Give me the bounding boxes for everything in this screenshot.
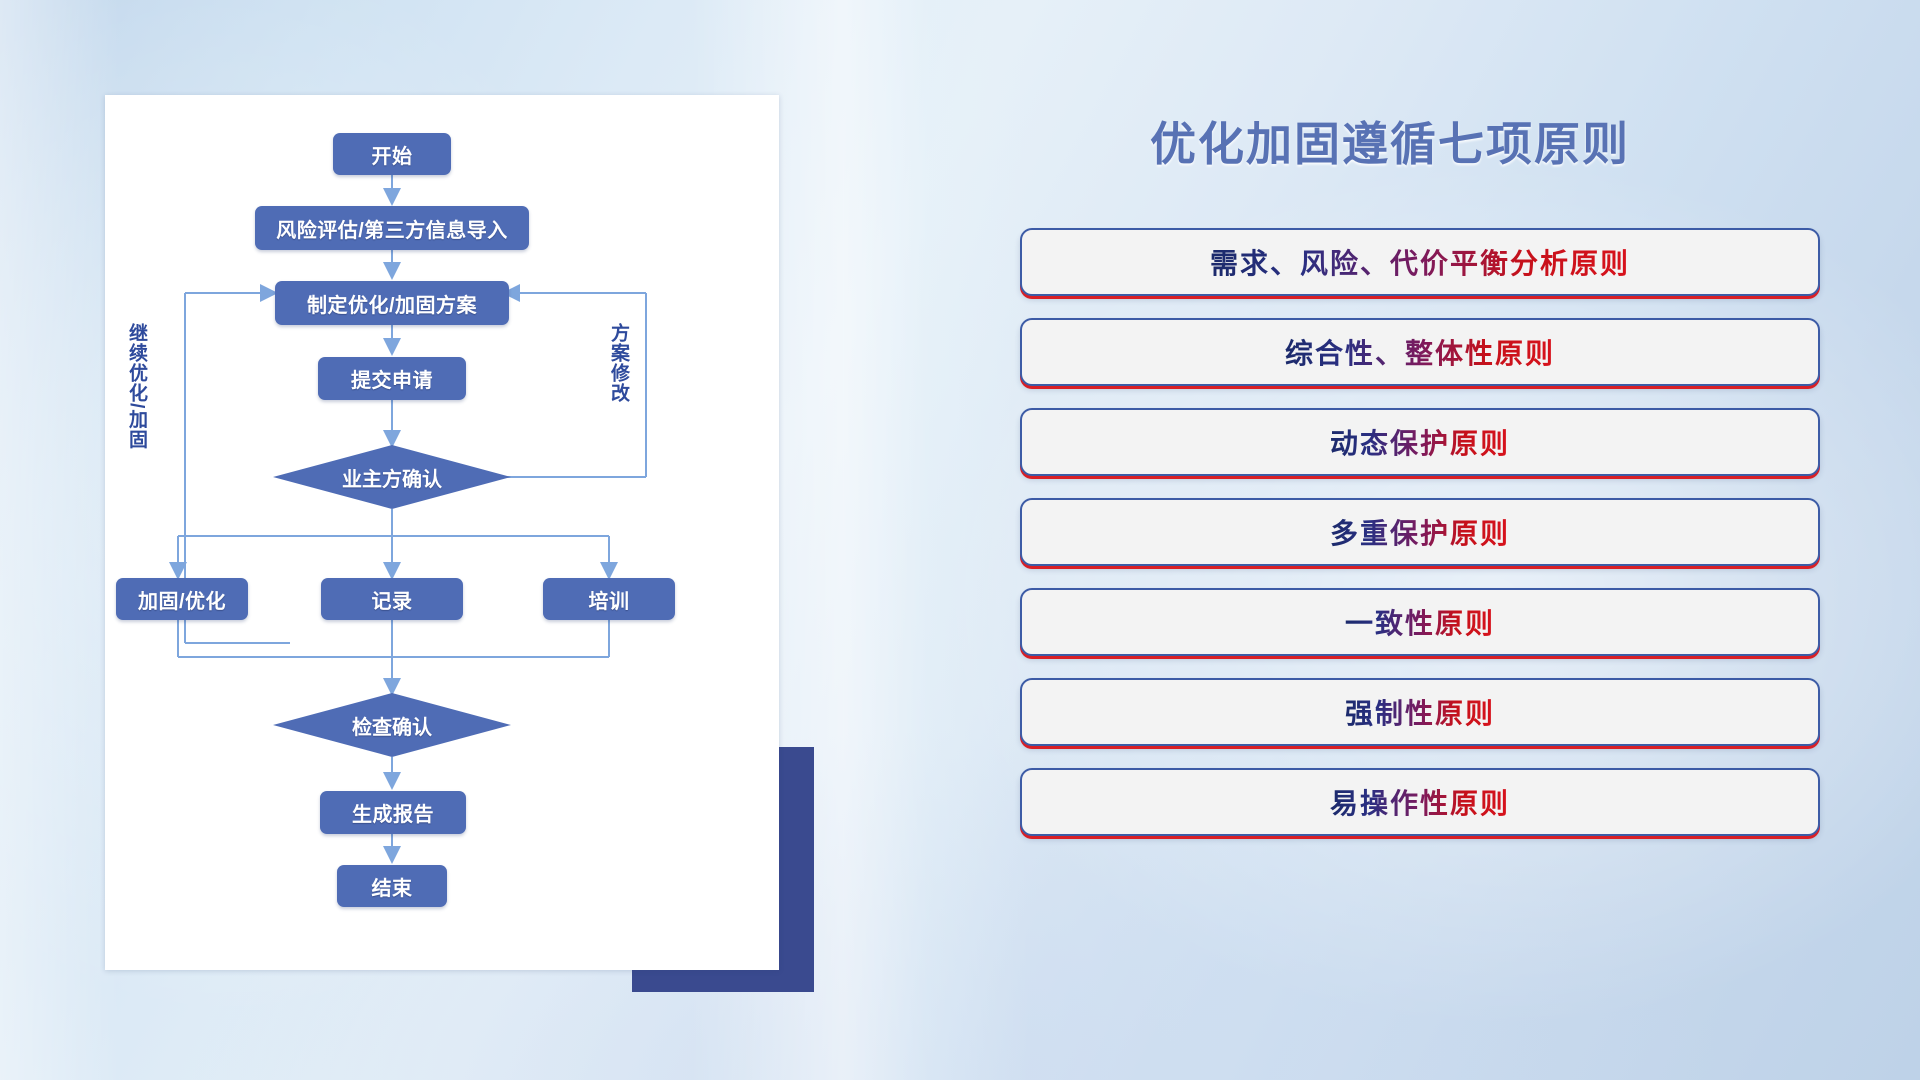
flow-node-generate-report-label: 生成报告 — [352, 798, 434, 827]
principle-card-3[interactable]: 动态保护原则 — [1020, 408, 1820, 476]
flow-node-owner-confirm-label: 业主方确认 — [273, 445, 511, 509]
flow-node-record-label: 记录 — [372, 585, 413, 614]
principle-card-1-label: 需求、风险、代价平衡分析原则 — [1210, 242, 1630, 282]
principle-card-2[interactable]: 综合性、整体性原则 — [1020, 318, 1820, 386]
flowchart-canvas: 开始 风险评估/第三方信息导入 制定优化/加固方案 提交申请 业主方确认 加固/… — [105, 95, 779, 970]
flow-edge-label-left-loop: 继续优化/加固 — [127, 323, 146, 449]
principle-card-4-label: 多重保护原则 — [1330, 512, 1510, 552]
principles-pane: 优化加固遵循七项原则 需求、风险、代价平衡分析原则 综合性、整体性原则 动态保护… — [1020, 0, 1920, 1080]
flow-node-owner-confirm[interactable]: 业主方确认 — [273, 445, 511, 509]
background-sheen-left — [0, 0, 120, 1080]
page-title: 优化加固遵循七项原则 — [1150, 108, 1630, 174]
principle-card-5-label: 一致性原则 — [1345, 602, 1495, 642]
flow-node-submit-application-label: 提交申请 — [351, 364, 433, 393]
flowchart-card: 开始 风险评估/第三方信息导入 制定优化/加固方案 提交申请 业主方确认 加固/… — [105, 95, 779, 970]
principle-card-3-label: 动态保护原则 — [1330, 422, 1510, 462]
principle-card-2-label: 综合性、整体性原则 — [1285, 332, 1555, 372]
flow-node-make-plan-label: 制定优化/加固方案 — [307, 289, 477, 318]
flow-node-reinforce-optimize[interactable]: 加固/优化 — [116, 578, 248, 620]
flow-node-training[interactable]: 培训 — [543, 578, 675, 620]
flow-node-start-label: 开始 — [372, 140, 413, 169]
flow-edge-label-right-loop: 方案修改 — [609, 323, 628, 403]
flow-node-submit-application[interactable]: 提交申请 — [318, 357, 466, 400]
flow-node-start[interactable]: 开始 — [333, 133, 451, 175]
flow-node-training-label: 培训 — [589, 585, 630, 614]
principles-list: 需求、风险、代价平衡分析原则 综合性、整体性原则 动态保护原则 多重保护原则 一… — [1020, 228, 1820, 858]
principle-card-6[interactable]: 强制性原则 — [1020, 678, 1820, 746]
principle-card-5[interactable]: 一致性原则 — [1020, 588, 1820, 656]
flow-node-risk-assessment-label: 风险评估/第三方信息导入 — [276, 214, 508, 243]
flow-node-generate-report[interactable]: 生成报告 — [320, 791, 466, 834]
principle-card-6-label: 强制性原则 — [1345, 692, 1495, 732]
flow-node-end-label: 结束 — [372, 872, 413, 901]
principle-card-4[interactable]: 多重保护原则 — [1020, 498, 1820, 566]
principle-card-1[interactable]: 需求、风险、代价平衡分析原则 — [1020, 228, 1820, 296]
flow-node-inspection-confirm[interactable]: 检查确认 — [273, 693, 511, 757]
flow-node-record[interactable]: 记录 — [321, 578, 463, 620]
principle-card-7[interactable]: 易操作性原则 — [1020, 768, 1820, 836]
principle-card-7-label: 易操作性原则 — [1330, 782, 1510, 822]
flow-node-reinforce-optimize-label: 加固/优化 — [138, 585, 226, 614]
flow-node-make-plan[interactable]: 制定优化/加固方案 — [275, 281, 509, 325]
flow-node-end[interactable]: 结束 — [337, 865, 447, 907]
flow-node-risk-assessment[interactable]: 风险评估/第三方信息导入 — [255, 206, 529, 250]
flow-node-inspection-confirm-label: 检查确认 — [273, 693, 511, 757]
